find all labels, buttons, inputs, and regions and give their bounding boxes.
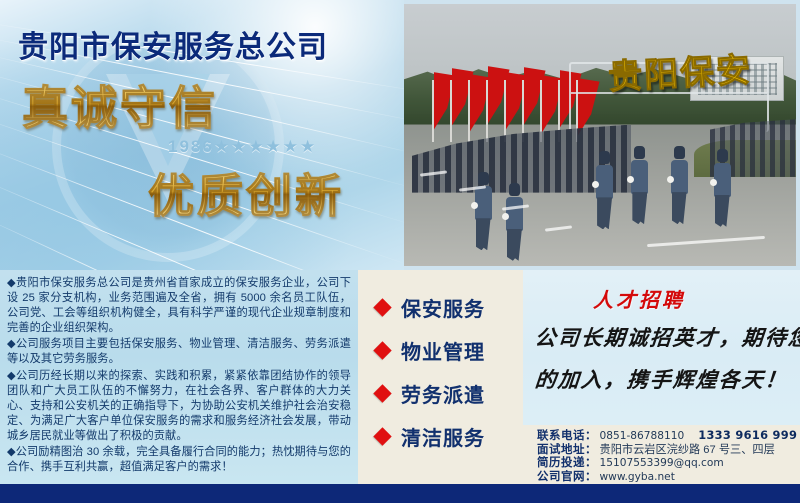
contact-value-email[interactable]: 15107553399@qq.com bbox=[600, 457, 724, 471]
hero-banner-left: 贵阳市保安服务总公司 真诚守信 1986★★★★★★ 优质创新 bbox=[0, 0, 404, 270]
contact-label: 联系电话 bbox=[537, 430, 585, 444]
contact-row-address: 面试地址 ： 贵阳市云岩区浣纱路 67 号三、四层 bbox=[537, 444, 800, 458]
contact-colon: ： bbox=[585, 430, 597, 444]
contact-label: 面试地址 bbox=[537, 444, 585, 458]
diamond-bullet-icon bbox=[373, 298, 391, 316]
recruitment-panel: 人才招聘 公司长期诚招英才，期待您 的加入，携手辉煌各天！ bbox=[523, 270, 800, 425]
service-item-label: 物业管理 bbox=[401, 336, 485, 365]
diamond-bullet-icon bbox=[373, 384, 391, 402]
contact-colon: ： bbox=[585, 471, 597, 485]
service-item-label: 劳务派遣 bbox=[401, 379, 485, 408]
contact-value-address: 贵阳市云岩区浣纱路 67 号三、四层 bbox=[600, 444, 775, 458]
about-paragraph: ◆公司励精图治 30 余载，完全具备履行合同的能力；热忱期待与您的合作、携手互利… bbox=[7, 445, 351, 475]
contact-value-mobile[interactable]: 1333 9616 999 bbox=[698, 429, 797, 443]
about-paragraph: ◆公司历经长期以来的探索、实践和积累，紧紧依靠团结协作的领导团队和广大员工队伍的… bbox=[7, 369, 351, 444]
photo-guard-figure bbox=[506, 183, 523, 261]
diamond-bullet-icon bbox=[373, 427, 391, 445]
contact-label: 公司官网 bbox=[537, 471, 585, 485]
recruitment-title: 人才招聘 bbox=[593, 284, 685, 313]
service-item-security[interactable]: 保安服务 bbox=[358, 286, 523, 329]
photo-guard-figure bbox=[475, 172, 492, 250]
poster-root: 贵阳市保安服务总公司 真诚守信 1986★★★★★★ 优质创新 bbox=[0, 0, 800, 503]
photo-guard-figure bbox=[631, 146, 648, 224]
photo-caption-overlay: 贵阳保安 bbox=[607, 42, 753, 98]
contact-row-phone: 联系电话 ： 0851-86788110 1333 9616 999 bbox=[537, 429, 800, 444]
company-name-heading: 贵阳市保安服务总公司 bbox=[18, 22, 390, 66]
contact-colon: ： bbox=[585, 444, 597, 458]
diamond-bullet-icon bbox=[373, 341, 391, 359]
about-company-panel: ◆贵阳市保安服务总公司是贵州省首家成立的保安服务企业，公司下设 25 家分支机构… bbox=[0, 270, 358, 484]
recruitment-message-line-1: 公司长期诚招英才，期待您 bbox=[534, 322, 800, 352]
founded-year-badge: 1986★★★★★★ bbox=[168, 137, 317, 157]
contact-value-phone[interactable]: 0851-86788110 bbox=[600, 430, 685, 444]
service-item-label: 清洁服务 bbox=[401, 422, 485, 451]
recruitment-message-line-2: 的加入，携手辉煌各天！ bbox=[534, 364, 790, 394]
service-item-cleaning[interactable]: 清洁服务 bbox=[358, 415, 523, 458]
about-paragraph: ◆公司服务项目主要包括保安服务、物业管理、清洁服务、劳务派遣等以及其它劳务服务。 bbox=[7, 337, 351, 367]
contact-value-website[interactable]: www.gyba.net bbox=[600, 471, 675, 485]
service-item-labor-dispatch[interactable]: 劳务派遣 bbox=[358, 372, 523, 415]
parade-photo: 贵阳保安 bbox=[404, 4, 796, 266]
contact-row-website: 公司官网 ： www.gyba.net bbox=[537, 471, 800, 485]
footer-bar bbox=[0, 484, 800, 503]
photo-guard-figure bbox=[714, 149, 731, 227]
contact-colon: ： bbox=[585, 457, 597, 471]
slogan-line-1: 真诚守信 bbox=[22, 72, 218, 138]
service-item-property-management[interactable]: 物业管理 bbox=[358, 329, 523, 372]
services-list-panel: 保安服务 物业管理 劳务派遣 清洁服务 bbox=[358, 270, 523, 484]
photo-guard-figure bbox=[596, 151, 613, 229]
service-item-label: 保安服务 bbox=[401, 293, 485, 322]
photo-guard-figure bbox=[671, 146, 688, 224]
contact-label: 简历投递 bbox=[537, 457, 585, 471]
slogan-line-2: 优质创新 bbox=[148, 160, 344, 226]
contact-info-panel: 联系电话 ： 0851-86788110 1333 9616 999 面试地址 … bbox=[523, 425, 800, 484]
contact-row-email: 简历投递 ： 15107553399@qq.com bbox=[537, 457, 800, 471]
about-paragraph: ◆贵阳市保安服务总公司是贵州省首家成立的保安服务企业，公司下设 25 家分支机构… bbox=[7, 276, 351, 336]
